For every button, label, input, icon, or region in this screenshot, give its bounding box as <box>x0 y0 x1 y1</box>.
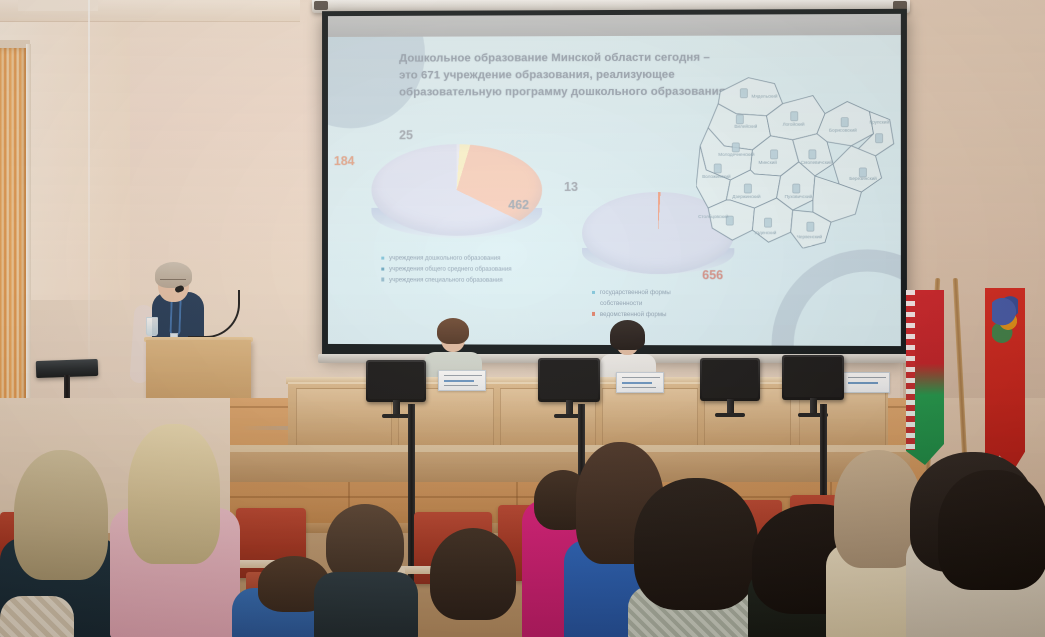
pie1-value-184: 184 <box>334 154 355 168</box>
pie2-value-13: 13 <box>564 180 578 194</box>
audience-hair <box>938 470 1045 590</box>
projection-screen: Дошкольное образование Минской области с… <box>322 9 907 359</box>
ceiling-beam <box>18 0 98 11</box>
window-frame <box>26 44 31 444</box>
pie1-legend: учреждения дошкольного образования учреж… <box>381 254 511 287</box>
svg-text:Вилейский: Вилейский <box>734 123 757 129</box>
svg-text:Логойский: Логойский <box>783 121 805 127</box>
legend-swatch-icon <box>381 256 384 259</box>
window-blinds <box>0 48 28 440</box>
monitor-base <box>715 413 745 417</box>
map-minsk-region: Мядельский Вилейский Молодечненский Воло… <box>696 57 898 248</box>
pie1-legend-label-2: учреждения специального образования <box>389 276 503 283</box>
pie2-value-656: 656 <box>702 268 723 282</box>
pie1-value-25: 25 <box>399 128 413 142</box>
water-glass <box>146 317 158 336</box>
table-panel <box>602 388 698 448</box>
audience-hair <box>326 504 404 582</box>
monitor-screen <box>368 362 424 399</box>
map-svg: Мядельский Вилейский Молодечненский Воло… <box>696 57 898 248</box>
svg-text:Дзержинский: Дзержинский <box>732 193 761 199</box>
monitor-screen <box>784 357 842 397</box>
slide-decor-arc <box>772 249 901 346</box>
audience-hair <box>634 478 758 610</box>
legend-swatch-icon <box>592 291 595 294</box>
svg-text:Смолевичский: Смолевичский <box>801 159 833 165</box>
audience-person <box>314 572 418 637</box>
panelist-two-hair <box>610 320 645 350</box>
svg-text:Столбцовский: Столбцовский <box>698 213 729 219</box>
nameplate-text <box>444 375 482 376</box>
pie2-legend-label-0a: государственной формы <box>600 289 671 296</box>
presidium-monitor[interactable] <box>366 360 426 402</box>
nameplate-text <box>848 382 878 384</box>
nameplate-text <box>622 387 656 388</box>
pie2-legend-row-1: ведомственной формы <box>592 310 671 321</box>
svg-text:Пуховичский: Пуховичский <box>785 193 813 199</box>
pie1-legend-label-1: учреждения общего среднего образования <box>389 265 512 272</box>
svg-text:Молодечненский: Молодечненский <box>718 151 755 157</box>
svg-text:Крупский: Крупский <box>869 119 889 125</box>
audience-person <box>0 596 74 637</box>
presidium-monitor[interactable] <box>782 355 844 400</box>
presidium-monitor[interactable] <box>700 358 760 401</box>
pie2-legend-row-0b: собственности <box>592 299 671 310</box>
screen-bracket-left <box>314 1 328 10</box>
legend-swatch-icon <box>592 312 595 315</box>
nameplate <box>842 372 890 393</box>
svg-text:Борисовский: Борисовский <box>829 127 857 133</box>
pie2-legend-label-1: ведомственной формы <box>600 311 667 318</box>
presidium-monitor[interactable] <box>538 358 600 402</box>
slide-title: Дошкольное образование Минской области с… <box>399 50 728 101</box>
pie2-legend-row-0: государственной формы <box>592 288 671 299</box>
flag-belarus-ornament <box>906 290 915 450</box>
legend-swatch-icon <box>381 278 384 281</box>
svg-text:Воложинский: Воложинский <box>702 173 731 179</box>
pie1-value-462: 462 <box>508 198 529 212</box>
flag-minsk-region-emblem <box>992 296 1018 348</box>
nameplate-text <box>622 377 660 378</box>
audience-hair <box>14 450 108 580</box>
glasses-icon <box>160 279 186 284</box>
nameplate-text <box>622 382 652 384</box>
pie1-legend-label-0: учреждения дошкольного образования <box>389 255 500 262</box>
audience-hair <box>430 528 516 620</box>
pie1-legend-row-2: учреждения специального образования <box>381 275 511 286</box>
pie2-legend: государственной формы собственности ведо… <box>592 288 671 321</box>
svg-text:Березинский: Березинский <box>849 175 877 181</box>
monitor-screen <box>702 360 758 398</box>
speaker-lanyard <box>169 300 181 336</box>
nameplate-text <box>444 385 478 386</box>
svg-text:Мядельский: Мядельский <box>751 93 778 99</box>
speaker-hair <box>155 262 192 288</box>
pie-institutions-by-type: 462 184 25 учреждения дошкольного образо… <box>358 136 566 271</box>
conference-hall-photo: Дошкольное образование Минской области с… <box>0 0 1045 637</box>
nameplate <box>438 370 486 391</box>
nameplate-text <box>444 380 474 382</box>
svg-text:Минский: Минский <box>758 159 777 165</box>
pie1-legend-row-0: учреждения дошкольного образования <box>381 254 511 265</box>
pie1-disc <box>371 144 542 236</box>
svg-text:Узденский: Узденский <box>754 229 776 235</box>
pie1-legend-row-1: учреждения общего среднего образования <box>381 264 511 275</box>
panelist-one-hair <box>437 318 469 344</box>
audience-hair <box>128 424 220 564</box>
legend-swatch-icon <box>381 267 384 270</box>
nameplate-text <box>848 377 886 378</box>
monitor-screen <box>540 360 598 399</box>
nameplate <box>616 372 664 393</box>
svg-text:Червенский: Червенский <box>797 233 823 239</box>
presentation-slide: Дошкольное образование Минской области с… <box>328 35 901 346</box>
pie2-legend-label-0b: собственности <box>600 300 642 307</box>
